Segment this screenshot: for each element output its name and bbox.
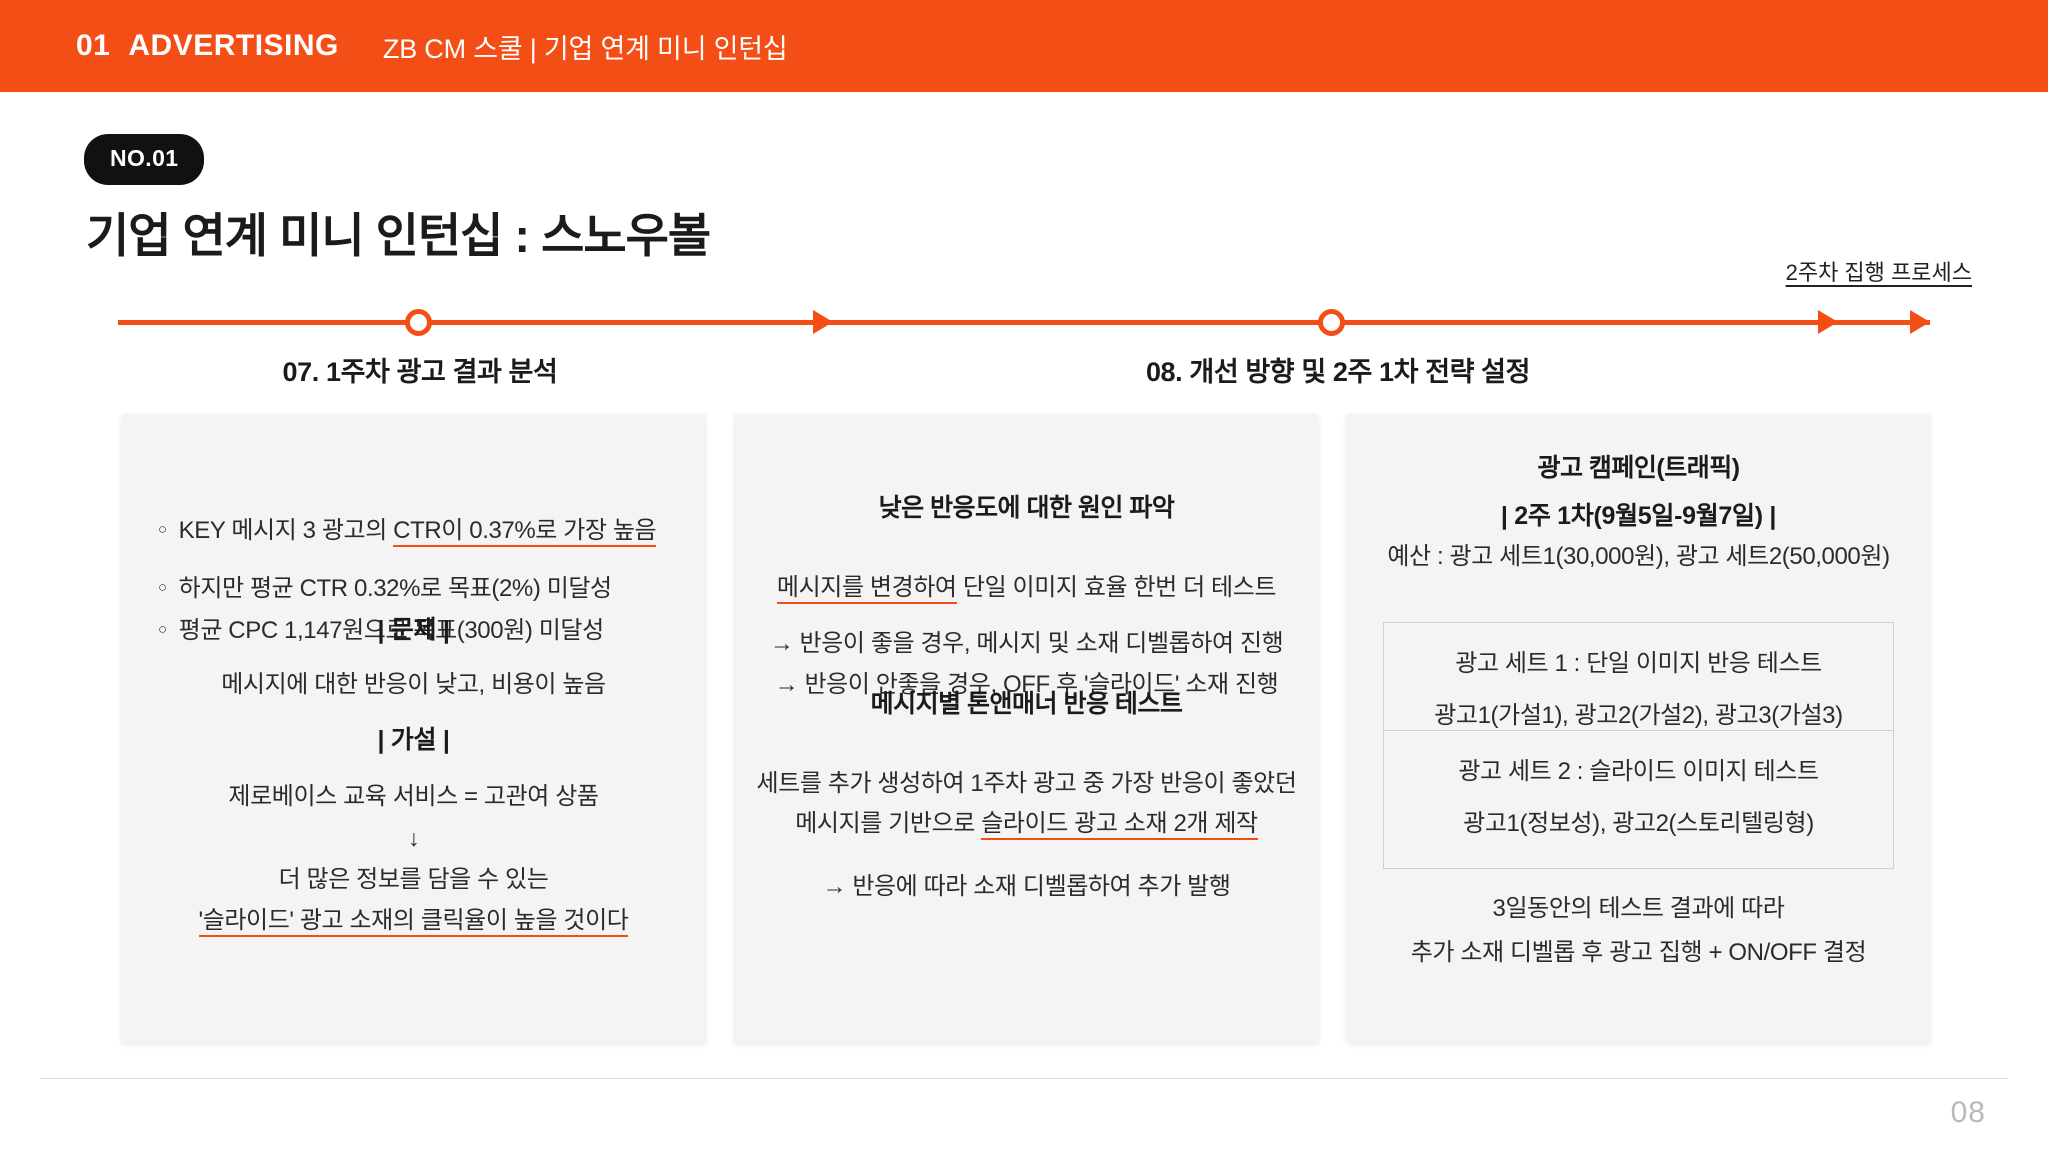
highlighted-text: 메시지를 변경하여 <box>777 574 957 604</box>
improvement-heading-1: 낮은 반응도에 대한 원인 파악 <box>735 488 1318 524</box>
timeline-marker-icon <box>1318 309 1345 336</box>
campaign-footer-line-2: 추가 소재 디벨롭 후 광고 집행 + ON/OFF 결정 <box>1347 934 1930 972</box>
improvement-sub-2-line-2: 메시지를 기반으로 슬라이드 광고 소재 2개 제작 <box>735 805 1318 843</box>
analysis-hypothesis-block: | 가설 | 제로베이스 교육 서비스 = 고관여 상품 ↓ 더 많은 정보를 … <box>122 720 705 940</box>
analysis-problem-block: | 문제 | 메시지에 대한 반응이 낮고, 비용이 높음 <box>122 610 705 704</box>
highlighted-text: 슬라이드 광고 소재 2개 제작 <box>981 810 1258 840</box>
list-item-text: KEY 메시지 3 광고의 CTR이 0.37%로 가장 높음 <box>179 513 657 549</box>
ad-set-2-line-2: 광고1(정보성), 광고2(스토리텔링형) <box>1384 805 1893 843</box>
hypothesis-line-2: 더 많은 정보를 담을 수 있는 <box>122 861 705 899</box>
improvement-block-2: 메시지별 톤앤매너 반응 테스트 세트를 추가 생성하여 1주차 광고 중 가장… <box>735 684 1318 906</box>
page-number: 08 <box>1951 1096 1986 1130</box>
header-section-title: ADVERTISING <box>128 29 339 63</box>
card-analysis: ○ KEY 메시지 3 광고의 CTR이 0.37%로 가장 높음 ○ 하지만 … <box>122 414 705 1042</box>
timeline <box>118 305 1930 341</box>
timeline-step-label-1: 07. 1주차 광고 결과 분석 <box>283 350 558 389</box>
timeline-step-label-2: 08. 개선 방향 및 2주 1차 전략 설정 <box>1146 350 1530 389</box>
hypothesis-line-1: 제로베이스 교육 서비스 = 고관여 상품 <box>122 778 705 816</box>
timeline-marker-icon <box>405 309 432 336</box>
timeline-line <box>118 320 1930 325</box>
timeline-arrow-icon <box>813 310 833 334</box>
list-item-text: 하지만 평균 CTR 0.32%로 목표(2%) 미달성 <box>179 571 612 607</box>
campaign-footer-line-1: 3일동안의 테스트 결과에 따라 <box>1347 890 1930 928</box>
highlighted-text: '슬라이드' 광고 소재의 클릭율이 높을 것이다 <box>199 907 629 937</box>
hypothesis-heading: | 가설 | <box>122 720 705 756</box>
highlighted-text: CTR이 0.37%로 가장 높음 <box>393 517 656 547</box>
improvement-heading-2: 메시지별 톤앤매너 반응 테스트 <box>735 684 1318 720</box>
improvement-sub-1: 메시지를 변경하여 단일 이미지 효율 한번 더 테스트 <box>735 569 1318 607</box>
header-subtitle: ZB CM 스쿨 | 기업 연계 미니 인턴십 <box>383 27 788 66</box>
list-item: ○ 하지만 평균 CTR 0.32%로 목표(2%) 미달성 <box>158 571 705 607</box>
ad-set-box-2: 광고 세트 2 : 슬라이드 이미지 테스트 광고1(정보성), 광고2(스토리… <box>1383 730 1894 869</box>
ad-set-1-line-1: 광고 세트 1 : 단일 이미지 반응 테스트 <box>1384 645 1893 683</box>
slide-number-badge: NO.01 <box>84 134 204 185</box>
card-improvement: 낮은 반응도에 대한 원인 파악 메시지를 변경하여 단일 이미지 효율 한번 … <box>735 414 1318 1042</box>
timeline-arrow-icon <box>1818 310 1838 334</box>
list-item: ○ KEY 메시지 3 광고의 CTR이 0.37%로 가장 높음 <box>158 513 705 549</box>
page-title: 기업 연계 미니 인턴십 : 스노우볼 <box>86 197 710 266</box>
campaign-budget: 예산 : 광고 세트1(30,000원), 광고 세트2(50,000원) <box>1347 538 1930 576</box>
header-section-number: 01 <box>76 29 110 63</box>
problem-text: 메시지에 대한 반응이 낮고, 비용이 높음 <box>122 666 705 704</box>
bullet-circle-icon: ○ <box>158 513 167 547</box>
down-arrow-icon: ↓ <box>122 820 705 857</box>
improvement-sub-2-line-1: 세트를 추가 생성하여 1주차 광고 중 가장 반응이 좋았던 <box>735 765 1318 803</box>
footer-divider <box>40 1078 2008 1079</box>
improvement-block-1: 낮은 반응도에 대한 원인 파악 메시지를 변경하여 단일 이미지 효율 한번 … <box>735 488 1318 704</box>
hypothesis-line-3: '슬라이드' 광고 소재의 클릭율이 높을 것이다 <box>122 902 705 940</box>
timeline-arrow-icon <box>1910 310 1930 334</box>
problem-heading: | 문제 | <box>122 610 705 646</box>
campaign-period: | 2주 1차(9월5일-9월7일) | <box>1347 496 1930 532</box>
improvement-arrow-line-3: → 반응에 따라 소재 디벨롭하여 추가 발행 <box>735 868 1318 906</box>
campaign-title: 광고 캠페인(트래픽) <box>1347 448 1930 484</box>
improvement-arrow-line-1: → 반응이 좋을 경우, 메시지 및 소재 디벨롭하여 진행 <box>735 625 1318 663</box>
campaign-footer: 3일동안의 테스트 결과에 따라 추가 소재 디벨롭 후 광고 집행 + ON/… <box>1347 890 1930 973</box>
process-label: 2주차 집행 프로세스 <box>1786 255 1972 287</box>
bullet-circle-icon: ○ <box>158 571 167 605</box>
header-bar: 01 ADVERTISING ZB CM 스쿨 | 기업 연계 미니 인턴십 <box>0 0 2048 92</box>
card-campaign: 광고 캠페인(트래픽) | 2주 1차(9월5일-9월7일) | 예산 : 광고… <box>1347 414 1930 1042</box>
ad-set-2-line-1: 광고 세트 2 : 슬라이드 이미지 테스트 <box>1384 753 1893 791</box>
